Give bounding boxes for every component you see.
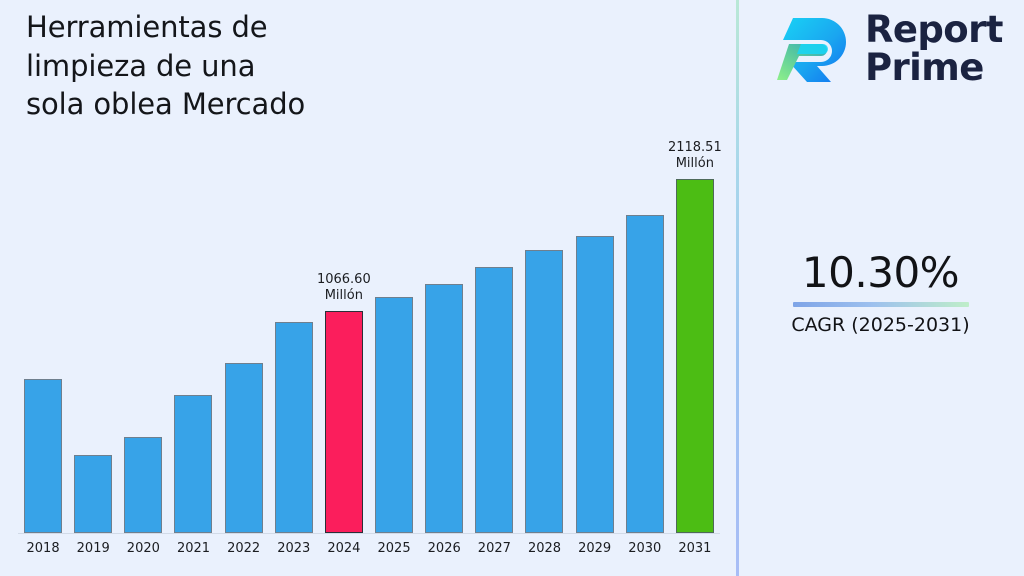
bar-slot xyxy=(469,130,519,533)
x-axis-tick-labels: 2018201920202021202220232024202520262027… xyxy=(18,541,720,567)
bar-slot xyxy=(269,130,319,533)
chart-panel: Herramientas de limpieza de una sola obl… xyxy=(0,0,737,576)
bar-2029[interactable] xyxy=(576,236,614,533)
bar-2026[interactable] xyxy=(425,284,463,533)
x-tick-2026: 2026 xyxy=(419,541,469,556)
bar-2019[interactable] xyxy=(74,455,112,533)
cagr-value: 10.30% xyxy=(737,250,1024,296)
x-tick-2022: 2022 xyxy=(219,541,269,556)
x-tick-2023: 2023 xyxy=(269,541,319,556)
x-tick-2028: 2028 xyxy=(519,541,569,556)
bar-slot xyxy=(369,130,419,533)
cagr-caption: CAGR (2025-2031) xyxy=(737,314,1024,336)
cagr-block: 10.30% CAGR (2025-2031) xyxy=(737,250,1024,336)
bar-slot xyxy=(68,130,118,533)
bar-slot xyxy=(519,130,569,533)
x-tick-2025: 2025 xyxy=(369,541,419,556)
bar-value-label-2031: 2118.51 Millón xyxy=(654,140,736,173)
bar-slot xyxy=(168,130,218,533)
bar-slot xyxy=(620,130,670,533)
x-tick-2027: 2027 xyxy=(469,541,519,556)
info-panel: Report Prime 10.30% CAGR (2025-2031) xyxy=(737,0,1024,576)
x-axis-line xyxy=(18,533,720,534)
bar-2031[interactable] xyxy=(676,179,714,533)
bar-2021[interactable] xyxy=(174,395,212,533)
bar-slot xyxy=(18,130,68,533)
brand-name-line2: Prime xyxy=(865,49,1003,87)
bar-slot xyxy=(118,130,168,533)
bar-2025[interactable] xyxy=(375,297,413,533)
bar-slot xyxy=(219,130,269,533)
x-tick-2031: 2031 xyxy=(670,541,720,556)
bar-2027[interactable] xyxy=(475,267,513,533)
bar-2030[interactable] xyxy=(626,215,664,533)
bar-2018[interactable] xyxy=(24,379,62,533)
cagr-divider-rule xyxy=(793,302,969,307)
x-tick-2024: 2024 xyxy=(319,541,369,556)
bar-2022[interactable] xyxy=(225,363,263,533)
bar-slot: 1066.60 Millón xyxy=(319,130,369,533)
x-tick-2021: 2021 xyxy=(168,541,218,556)
bar-2020[interactable] xyxy=(124,437,162,533)
x-tick-2029: 2029 xyxy=(570,541,620,556)
brand-name: Report Prime xyxy=(865,11,1003,87)
bar-2024[interactable] xyxy=(325,311,363,533)
slide-root: Herramientas de limpieza de una sola obl… xyxy=(0,0,1024,576)
x-tick-2020: 2020 xyxy=(118,541,168,556)
bar-series: 1066.60 Millón2118.51 Millón xyxy=(18,130,720,533)
x-tick-2019: 2019 xyxy=(68,541,118,556)
bar-chart: 1066.60 Millón2118.51 Millón 20182019202… xyxy=(0,0,737,576)
bar-slot: 2118.51 Millón xyxy=(670,130,720,533)
x-tick-2018: 2018 xyxy=(18,541,68,556)
bar-2028[interactable] xyxy=(525,250,563,533)
brand-name-line1: Report xyxy=(865,11,1003,49)
bar-slot xyxy=(419,130,469,533)
x-tick-2030: 2030 xyxy=(620,541,670,556)
report-prime-logo-icon xyxy=(777,10,851,88)
brand-logo: Report Prime xyxy=(777,10,1003,88)
bar-slot xyxy=(570,130,620,533)
bar-2023[interactable] xyxy=(275,322,313,533)
